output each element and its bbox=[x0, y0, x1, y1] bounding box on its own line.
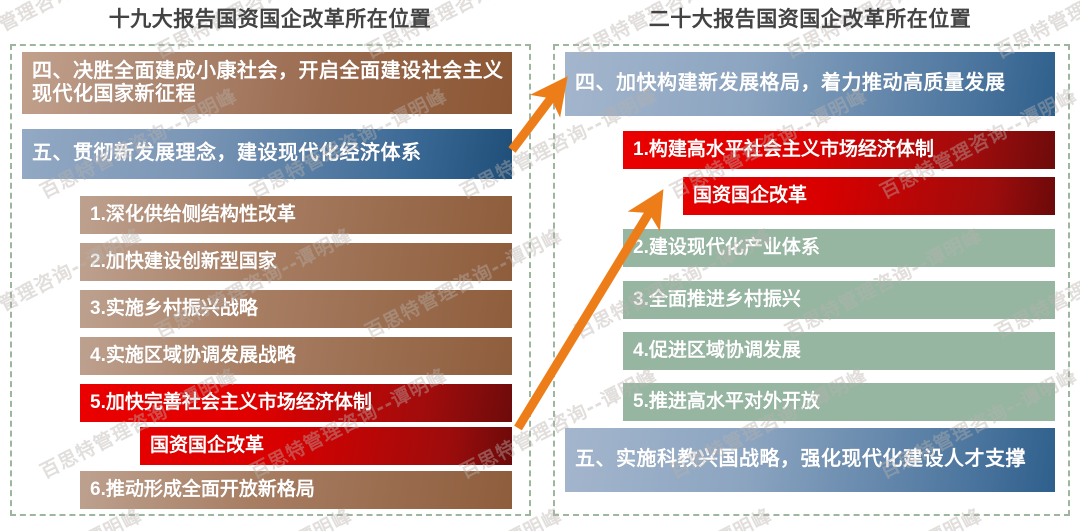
right-item-2[interactable]: 2.建设现代化产业体系 bbox=[623, 229, 1055, 267]
right-item-1-sub-label: 国资国企改革 bbox=[693, 185, 807, 207]
left-item-2[interactable]: 2.加快建设创新型国家 bbox=[80, 243, 512, 281]
right-item-1[interactable]: 1.构建高水平社会主义市场经济体制 bbox=[623, 131, 1055, 169]
right-panel-title: 二十大报告国资国企改革所在位置 bbox=[540, 4, 1080, 36]
left-item-2-label: 2.加快建设创新型国家 bbox=[90, 251, 277, 273]
right-item-1-label: 1.构建高水平社会主义市场经济体制 bbox=[633, 139, 934, 161]
right-section-5[interactable]: 五、实施科教兴国战略，强化现代化建设人才支撑 bbox=[565, 428, 1055, 492]
right-item-5[interactable]: 5.推进高水平对外开放 bbox=[623, 383, 1055, 421]
right-item-3[interactable]: 3.全面推进乡村振兴 bbox=[623, 281, 1055, 319]
left-item-1[interactable]: 1.深化供给侧结构性改革 bbox=[80, 196, 512, 234]
left-item-4[interactable]: 4.实施区域协调发展战略 bbox=[80, 337, 512, 375]
left-item-3[interactable]: 3.实施乡村振兴战略 bbox=[80, 290, 512, 328]
right-panel: 二十大报告国资国企改革所在位置 四、加快构建新发展格局，着力推动高质量发展 1.… bbox=[540, 0, 1080, 531]
left-item-5-sub-label: 国资国企改革 bbox=[150, 435, 264, 457]
left-section-5[interactable]: 五、贯彻新发展理念，建设现代化经济体系 bbox=[22, 129, 512, 179]
right-item-3-label: 3.全面推进乡村振兴 bbox=[633, 289, 801, 311]
left-item-1-label: 1.深化供给侧结构性改革 bbox=[90, 204, 296, 226]
left-item-6[interactable]: 6.推动形成全面开放新格局 bbox=[80, 471, 512, 509]
right-item-5-label: 5.推进高水平对外开放 bbox=[633, 391, 820, 413]
left-panel: 十九大报告国资国企改革所在位置 四、决胜全面建成小康社会，开启全面建设社会主义现… bbox=[0, 0, 540, 531]
left-section-4-label: 四、决胜全面建成小康社会，开启全面建设社会主义现代化国家新征程 bbox=[32, 60, 512, 106]
left-section-5-label: 五、贯彻新发展理念，建设现代化经济体系 bbox=[32, 142, 422, 165]
right-item-4-label: 4.促进区域协调发展 bbox=[633, 340, 801, 362]
right-section-5-label: 五、实施科教兴国战略，强化现代化建设人才支撑 bbox=[575, 448, 1026, 471]
left-item-3-label: 3.实施乡村振兴战略 bbox=[90, 298, 258, 320]
right-item-1-sub[interactable]: 国资国企改革 bbox=[683, 177, 1055, 215]
right-section-4[interactable]: 四、加快构建新发展格局，着力推动高质量发展 bbox=[565, 52, 1055, 116]
right-item-2-label: 2.建设现代化产业体系 bbox=[633, 237, 820, 259]
left-item-5-sub[interactable]: 国资国企改革 bbox=[140, 427, 512, 465]
left-panel-title: 十九大报告国资国企改革所在位置 bbox=[0, 4, 540, 36]
left-item-6-label: 6.推动形成全面开放新格局 bbox=[90, 479, 315, 501]
left-item-5-label: 5.加快完善社会主义市场经济体制 bbox=[90, 392, 372, 414]
right-item-4[interactable]: 4.促进区域协调发展 bbox=[623, 332, 1055, 370]
left-item-4-label: 4.实施区域协调发展战略 bbox=[90, 345, 296, 367]
slide-root: 百思特管理咨询--谭明峰百思特管理咨询--谭明峰百思特管理咨询--谭明峰百思特管… bbox=[0, 0, 1080, 531]
left-item-5[interactable]: 5.加快完善社会主义市场经济体制 bbox=[80, 384, 512, 422]
left-section-4[interactable]: 四、决胜全面建成小康社会，开启全面建设社会主义现代化国家新征程 bbox=[22, 52, 512, 114]
right-section-4-label: 四、加快构建新发展格局，着力推动高质量发展 bbox=[575, 72, 1006, 95]
